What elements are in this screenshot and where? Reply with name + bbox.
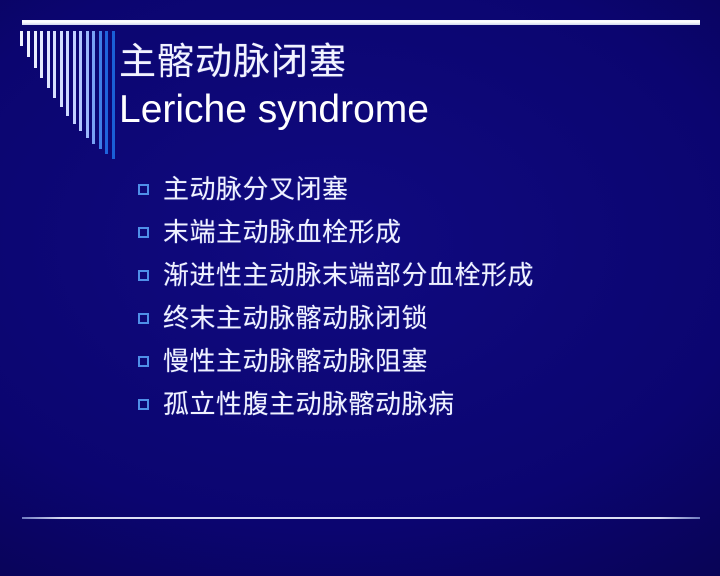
bullet-item-label: 终末主动脉髂动脉闭锁 xyxy=(163,301,428,337)
bullet-item-label: 末端主动脉血栓形成 xyxy=(163,215,402,251)
square-bullet-icon xyxy=(138,356,149,367)
bullet-item: 渐进性主动脉末端部分血栓形成 xyxy=(138,258,678,301)
decoration-bar-12 xyxy=(92,31,95,144)
decoration-bar-5 xyxy=(47,31,50,88)
slide-title-block: 主髂动脉闭塞 Leriche syndrome xyxy=(119,40,679,133)
decoration-bar-10 xyxy=(79,31,82,131)
decoration-bar-6 xyxy=(53,31,56,98)
decoration-bar-2 xyxy=(27,31,30,57)
decoration-bar-14 xyxy=(105,31,108,154)
bullet-item: 末端主动脉血栓形成 xyxy=(138,215,678,258)
title-english: Leriche syndrome xyxy=(119,86,679,133)
square-bullet-icon xyxy=(138,313,149,324)
title-chinese: 主髂动脉闭塞 xyxy=(119,40,679,84)
bullet-item-label: 孤立性腹主动脉髂动脉病 xyxy=(163,387,455,423)
bullet-list: 主动脉分叉闭塞末端主动脉血栓形成渐进性主动脉末端部分血栓形成终末主动脉髂动脉闭锁… xyxy=(138,172,678,430)
bullet-item-label: 渐进性主动脉末端部分血栓形成 xyxy=(163,258,534,294)
decoration-bar-15 xyxy=(112,31,115,159)
bullet-item: 主动脉分叉闭塞 xyxy=(138,172,678,215)
square-bullet-icon xyxy=(138,270,149,281)
decoration-bar-1 xyxy=(20,31,23,46)
bullet-item: 孤立性腹主动脉髂动脉病 xyxy=(138,387,678,430)
decoration-bar-7 xyxy=(60,31,63,107)
bullet-item: 终末主动脉髂动脉闭锁 xyxy=(138,301,678,344)
square-bullet-icon xyxy=(138,227,149,238)
bottom-divider-rule xyxy=(22,517,700,519)
bullet-item-label: 慢性主动脉髂动脉阻塞 xyxy=(163,344,428,380)
presentation-slide: 主髂动脉闭塞 Leriche syndrome 主动脉分叉闭塞末端主动脉血栓形成… xyxy=(0,0,720,576)
top-divider-rule xyxy=(22,20,700,25)
decoration-bar-9 xyxy=(73,31,76,124)
bullet-item: 慢性主动脉髂动脉阻塞 xyxy=(138,344,678,387)
decoration-bar-3 xyxy=(34,31,37,68)
decoration-bar-11 xyxy=(86,31,89,138)
decoration-bar-13 xyxy=(99,31,102,149)
square-bullet-icon xyxy=(138,184,149,195)
bullet-item-label: 主动脉分叉闭塞 xyxy=(163,172,349,208)
square-bullet-icon xyxy=(138,399,149,410)
decoration-bar-4 xyxy=(40,31,43,78)
decorative-bar-fan-icon xyxy=(20,31,116,159)
decoration-bar-8 xyxy=(66,31,69,116)
